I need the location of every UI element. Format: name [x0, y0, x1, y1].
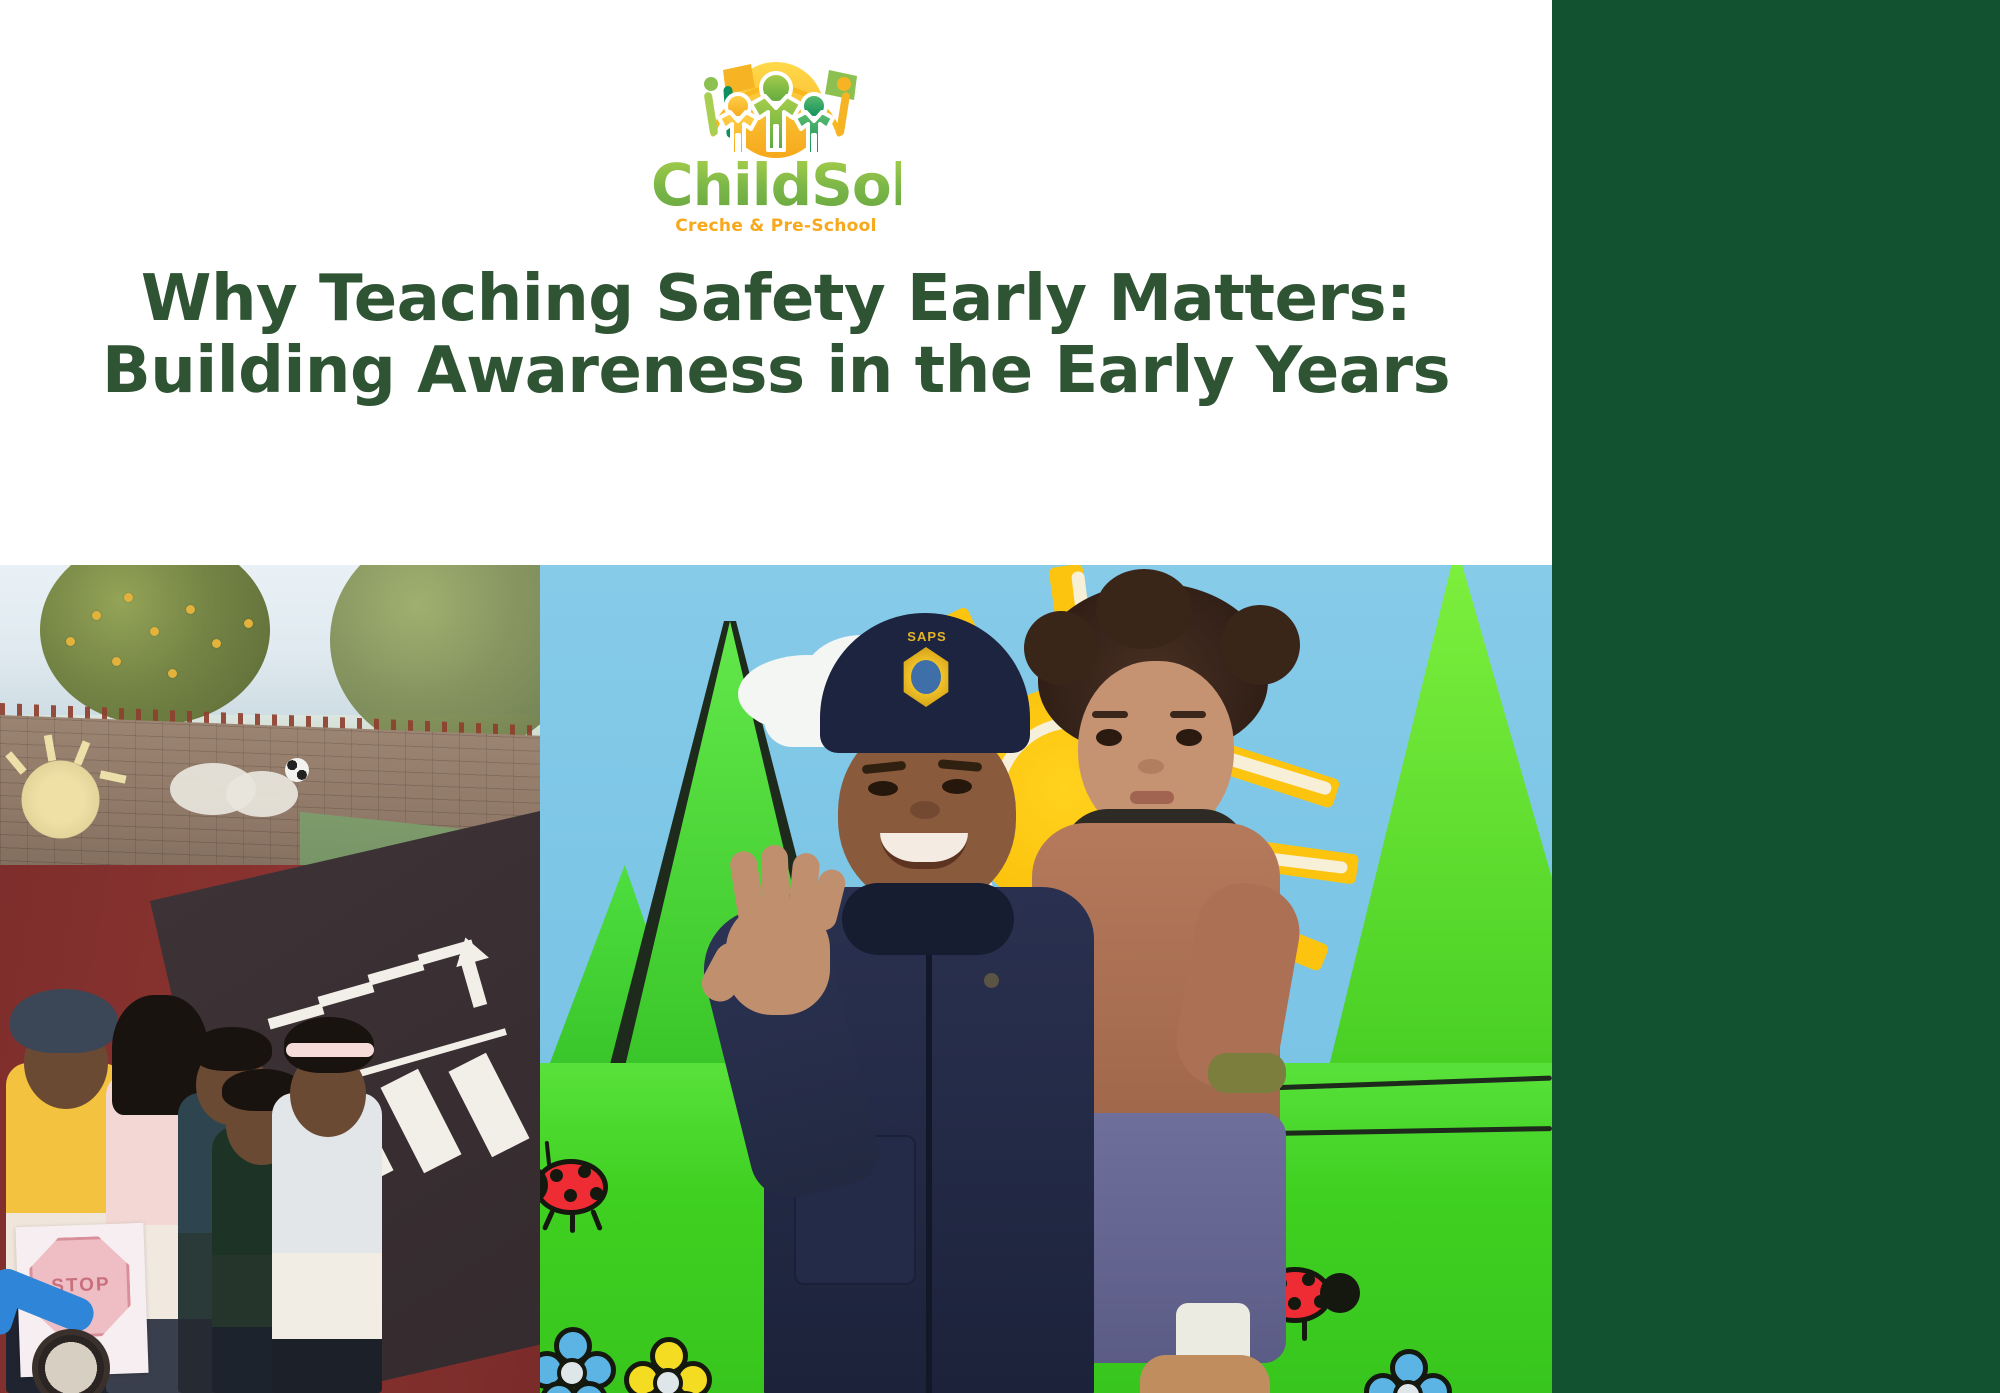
trike-wheel	[32, 1329, 110, 1393]
citrus-fruit	[66, 637, 75, 646]
citrus-fruit	[186, 605, 195, 614]
ladybug-leg	[542, 1209, 556, 1231]
child-eyebrow	[1170, 711, 1206, 718]
citrus-fruit	[124, 593, 133, 602]
right-green-panel	[1552, 0, 2000, 1393]
officer-nose	[910, 801, 940, 819]
painted-soccer-ball-mural	[285, 758, 309, 782]
article-image-strip: STOP	[0, 565, 1552, 1393]
citrus-fruit	[150, 627, 159, 636]
police-officer-holding-child-photo: SAPS	[540, 565, 1552, 1393]
child-in-white-jacket	[272, 1093, 382, 1393]
article-header: ChildSol Creche & Pre-School Why Teachin…	[0, 0, 1552, 565]
ladybug-spot	[550, 1169, 563, 1182]
page-content: ChildSol Creche & Pre-School Why Teachin…	[0, 0, 1552, 1393]
officer-jacket-collar	[842, 883, 1014, 955]
ladybug-spot	[590, 1187, 603, 1200]
painted-flower	[626, 1341, 712, 1393]
ladybug-spot	[578, 1165, 591, 1178]
childsol-logo[interactable]: ChildSol Creche & Pre-School	[651, 48, 901, 228]
citrus-fruit	[244, 619, 253, 628]
flower-center	[557, 1358, 587, 1388]
page-title: Why Teaching Safety Early Matters: Build…	[76, 264, 1476, 407]
ladybug-spot	[564, 1189, 577, 1202]
child-headband	[286, 1043, 374, 1057]
child-shoe	[1140, 1355, 1270, 1393]
painted-sun-mural	[8, 747, 113, 852]
saps-badge-text: SAPS	[892, 629, 962, 644]
saps-badge-emblem	[911, 660, 941, 694]
police-officer: SAPS	[730, 605, 1150, 1393]
brand-tagline: Creche & Pre-School	[651, 216, 901, 236]
child-hair	[192, 1027, 272, 1071]
officer-eye	[868, 781, 898, 796]
child-sleeve-cuff	[1208, 1053, 1286, 1093]
child-hair-puff	[1220, 605, 1300, 685]
brand-name: ChildSol	[651, 156, 901, 214]
blue-trike	[0, 1273, 128, 1393]
officer-waving-hand	[706, 845, 848, 1013]
child-cap	[10, 989, 118, 1053]
painted-ladybug	[540, 1159, 654, 1239]
officer-eye	[942, 779, 972, 794]
citrus-fruit	[168, 669, 177, 678]
citrus-fruit	[92, 611, 101, 620]
citrus-fruit	[212, 639, 221, 648]
childsol-sun-children-logo-icon	[651, 48, 901, 163]
painted-flower	[540, 1331, 616, 1393]
ladybug-leg	[570, 1211, 575, 1233]
officer-jacket-snap	[984, 973, 999, 988]
child-eye	[1176, 729, 1202, 746]
preschool-road-safety-lesson-photo: STOP	[0, 565, 540, 1393]
flower-center	[653, 1368, 683, 1393]
page-title-line-1: Why Teaching Safety Early Matters:	[76, 264, 1476, 336]
page-title-line-2: Building Awareness in the Early Years	[76, 336, 1476, 408]
officer-jacket-zip	[926, 935, 932, 1393]
citrus-fruit	[112, 657, 121, 666]
ladybug-leg	[590, 1209, 603, 1231]
trike-frame	[0, 1264, 98, 1336]
